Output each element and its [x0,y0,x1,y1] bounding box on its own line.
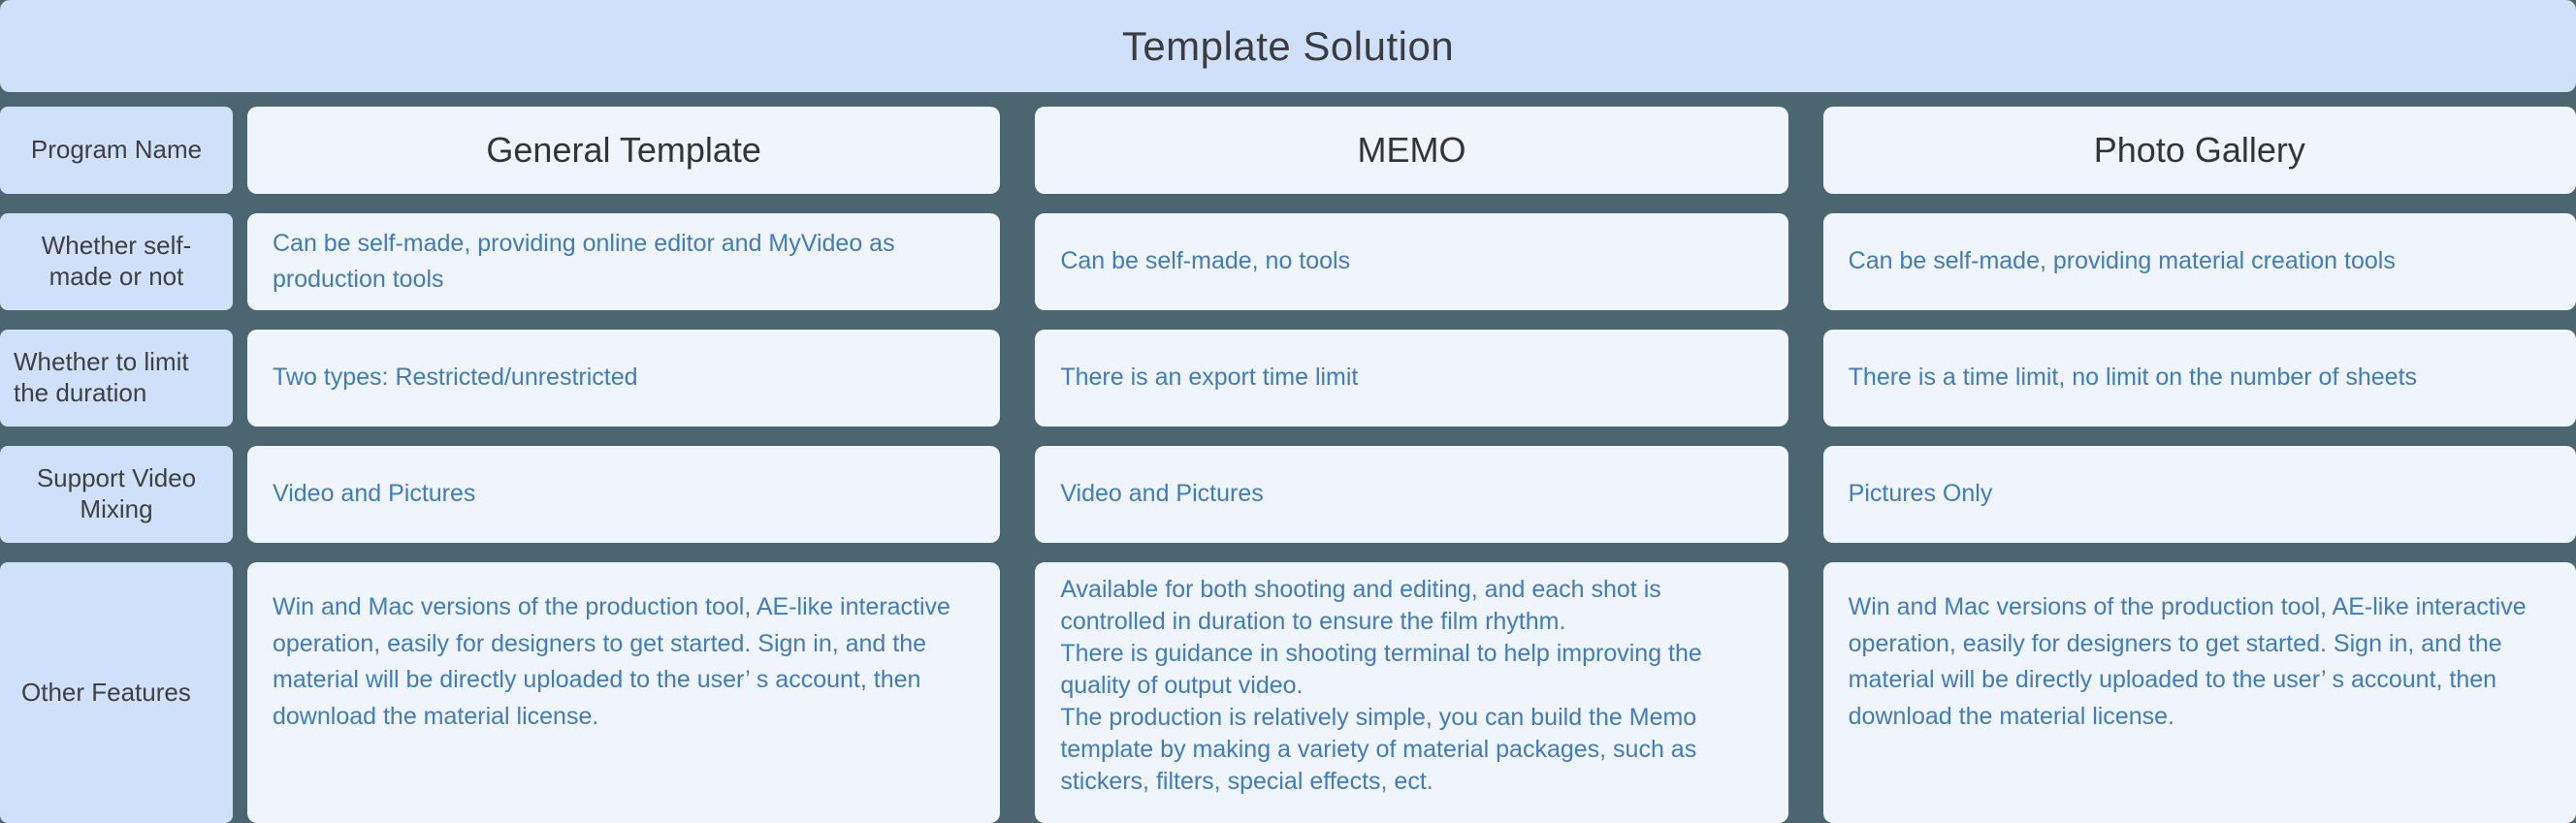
comparison-grid: Program Name General Template MEMO Photo… [0,107,2576,823]
cell-duration-memo: There is an export time limit [1035,330,1787,427]
column-gap [1788,562,1823,823]
column-header-general-template: General Template [247,107,1000,194]
column-gap [233,562,247,823]
row-label-whether-limit-duration: Whether to limit the duration [0,330,233,427]
cell-video-mixing-photo-gallery: Pictures Only [1823,446,2576,543]
column-gap [233,107,247,194]
column-gap [1000,562,1035,823]
cell-self-made-memo: Can be self-made, no tools [1035,213,1787,310]
column-header-memo: MEMO [1035,107,1787,194]
column-gap [1000,446,1035,543]
cell-other-features-memo: Available for both shooting and editing,… [1035,562,1787,823]
column-header-photo-gallery: Photo Gallery [1823,107,2576,194]
column-gap [1000,107,1035,194]
page-title: Template Solution [1122,23,1454,70]
column-gap [233,446,247,543]
title-banner: Template Solution [0,0,2576,92]
column-gap [1000,330,1035,427]
cell-other-features-general-template: Win and Mac versions of the production t… [247,562,1000,823]
table-row: Support Video Mixing Video and Pictures … [0,446,2576,543]
cell-other-features-photo-gallery: Win and Mac versions of the production t… [1823,562,2576,823]
cell-video-mixing-memo: Video and Pictures [1035,446,1787,543]
cell-self-made-general-template: Can be self-made, providing online edito… [247,213,1000,310]
column-gap [233,330,247,427]
cell-video-mixing-general-template: Video and Pictures [247,446,1000,543]
table-header-row: Program Name General Template MEMO Photo… [0,107,2576,194]
cell-duration-photo-gallery: There is a time limit, no limit on the n… [1823,330,2576,427]
table-row: Whether self- made or not Can be self-ma… [0,213,2576,310]
table-row: Other Features Win and Mac versions of t… [0,562,2576,823]
row-label-support-video-mixing: Support Video Mixing [0,446,233,543]
column-gap [1788,213,1823,310]
row-label-whether-self-made: Whether self- made or not [0,213,233,310]
column-gap [1000,213,1035,310]
comparison-table-page: Template Solution Program Name General T… [0,0,2576,818]
column-gap [1788,107,1823,194]
table-row: Whether to limit the duration Two types:… [0,330,2576,427]
cell-duration-general-template: Two types: Restricted/unrestricted [247,330,1000,427]
column-gap [1788,330,1823,427]
row-label-other-features: Other Features [0,562,233,823]
cell-self-made-photo-gallery: Can be self-made, providing material cre… [1823,213,2576,310]
row-label-program-name: Program Name [0,107,233,194]
column-gap [233,213,247,310]
column-gap [1788,446,1823,543]
